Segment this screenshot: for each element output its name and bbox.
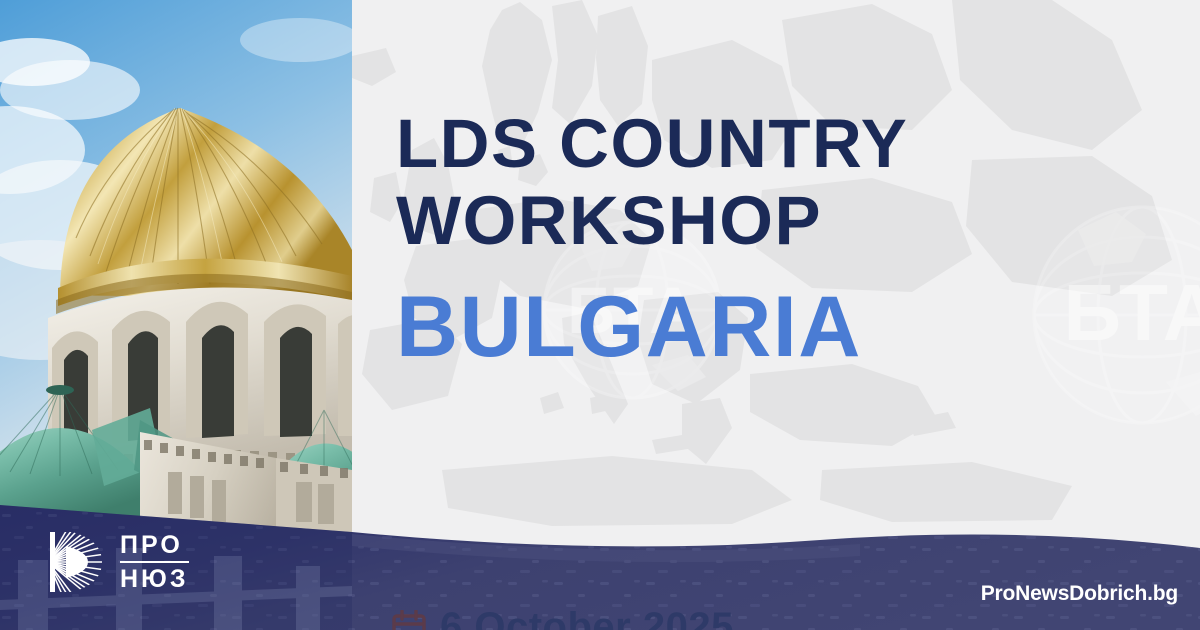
event-date-row: 6 October 2025 bbox=[392, 607, 734, 630]
pronews-wordmark: ПРО НЮЗ bbox=[120, 532, 189, 593]
pronews-logo[interactable]: ПРО НЮЗ bbox=[44, 528, 189, 596]
calendar-icon bbox=[392, 610, 426, 630]
site-url-label[interactable]: ProNewsDobrich.bg bbox=[981, 582, 1178, 606]
logo-word-pro: ПРО bbox=[120, 532, 189, 558]
logo-word-news: НЮЗ bbox=[120, 566, 189, 592]
logo-divider-rule bbox=[120, 561, 189, 563]
headline-block: LDS COUNTRY WORKSHOP BULGARIA bbox=[396, 105, 1156, 370]
country-title: BULGARIA bbox=[396, 284, 1156, 370]
pronews-d-mark-icon bbox=[44, 528, 106, 596]
content-panel: БТА БТА LDS COUNTRY WORKSHOP B bbox=[352, 0, 1200, 630]
headline-line-2: WORKSHOP bbox=[396, 182, 1156, 259]
event-date-text: 6 October 2025 bbox=[440, 607, 734, 630]
banner-canvas: БТА БТА LDS COUNTRY WORKSHOP B bbox=[0, 0, 1200, 630]
headline-line-1: LDS COUNTRY bbox=[396, 105, 1156, 182]
